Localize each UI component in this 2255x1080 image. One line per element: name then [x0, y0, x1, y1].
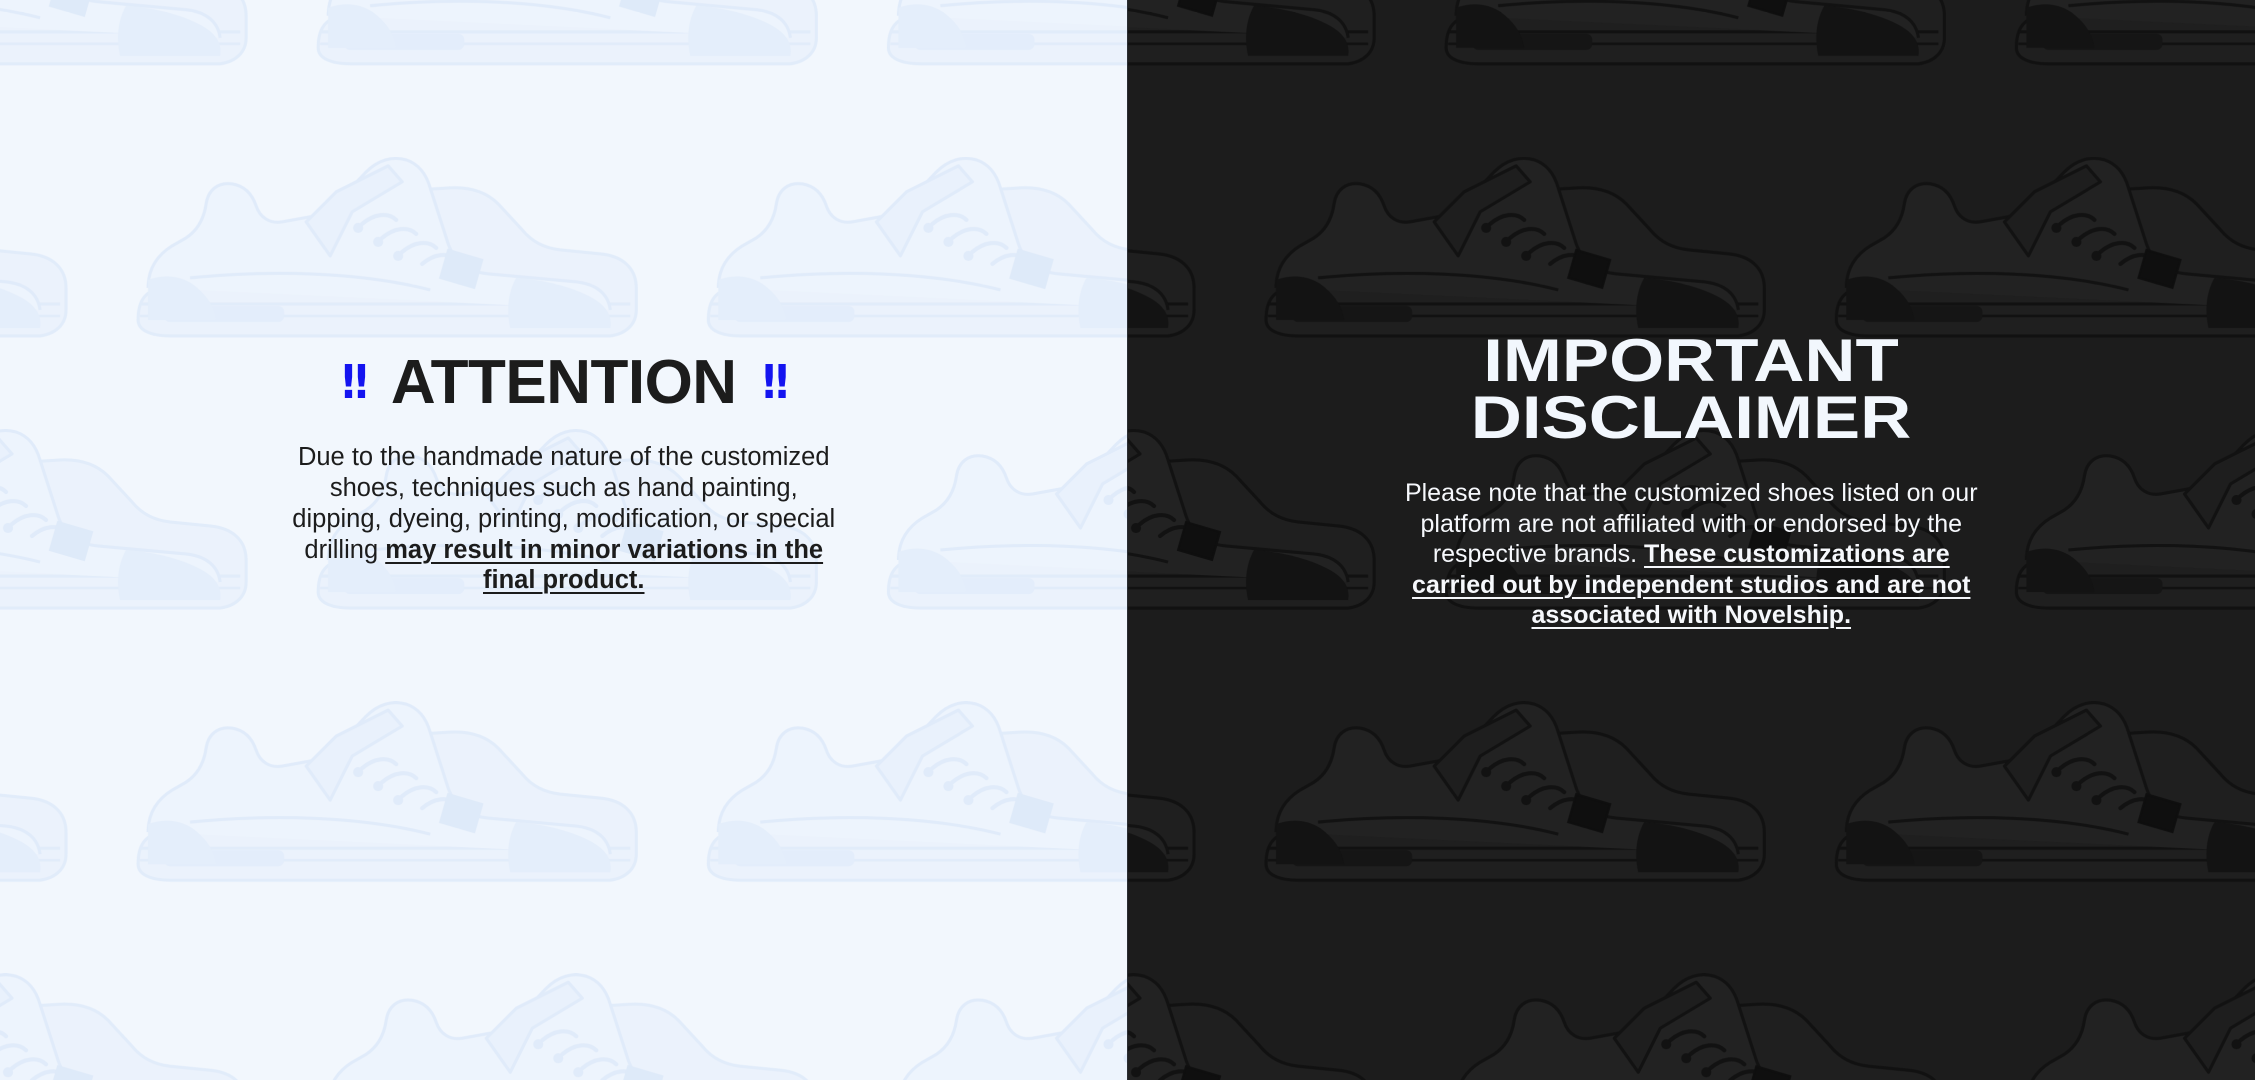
- attention-content: ‼ATTENTION‼ Due to the handmade nature o…: [0, 0, 1128, 596]
- disclaimer-panel: IMPORTANT DISCLAIMER Please note that th…: [1128, 0, 2255, 1080]
- disclaimer-heading: IMPORTANT DISCLAIMER: [1341, 332, 2041, 446]
- disclaimer-content: IMPORTANT DISCLAIMER Please note that th…: [1128, 0, 2255, 631]
- double-exclamation-right-icon: ‼: [763, 359, 786, 405]
- double-exclamation-left-icon: ‼: [342, 359, 365, 405]
- attention-heading: ‼ATTENTION‼: [342, 352, 786, 414]
- attention-body: Due to the handmade nature of the custom…: [284, 442, 844, 596]
- attention-panel: ‼ATTENTION‼ Due to the handmade nature o…: [0, 0, 1128, 1080]
- disclaimer-body: Please note that the customized shoes li…: [1391, 478, 1991, 631]
- attention-body-emphasis: may result in minor variations in the fi…: [385, 536, 823, 595]
- panel-divider: [1127, 0, 1128, 1080]
- disclaimer-banner: ‼ATTENTION‼ Due to the handmade nature o…: [0, 0, 2255, 1080]
- disclaimer-heading-line2: DISCLAIMER: [1278, 389, 2104, 446]
- disclaimer-heading-line1: IMPORTANT: [1278, 332, 2104, 389]
- attention-heading-text: ATTENTION: [391, 348, 737, 417]
